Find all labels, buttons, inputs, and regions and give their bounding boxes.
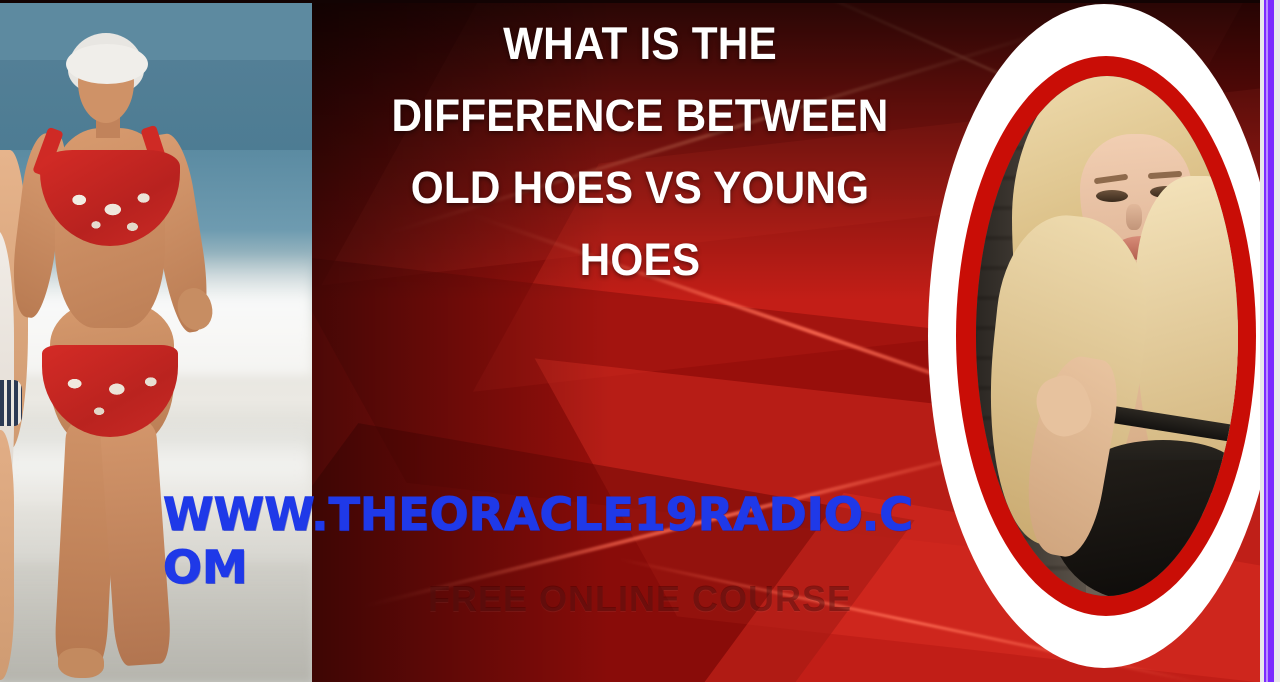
page-title: WHAT IS THE DIFFERENCE BETWEEN OLD HOES …: [349, 8, 932, 296]
partial-figure-bikini: [0, 380, 22, 426]
right-circular-frame: [928, 4, 1280, 676]
older-woman-foot: [58, 648, 104, 678]
right-photo-young-woman: [976, 76, 1238, 596]
top-border: [0, 0, 1280, 3]
title-line-4: HOES: [349, 224, 932, 296]
website-url-text: WWW.THEORACLE19RADIO.COM: [163, 488, 938, 594]
older-woman-hair-front: [66, 44, 148, 84]
right-purple-accent-strip: [1260, 0, 1280, 682]
title-line-3: OLD HOES VS YOUNG: [349, 152, 932, 224]
title-line-1: WHAT IS THE: [349, 8, 932, 80]
thumbnail-canvas: FREE ONLINE COURSE WHAT IS THE DIFFERENC…: [0, 0, 1280, 682]
title-line-2: DIFFERENCE BETWEEN: [349, 80, 932, 152]
young-woman-nose: [1126, 204, 1142, 230]
young-woman-eye-left: [1096, 190, 1128, 202]
partial-figure-leg: [0, 430, 14, 680]
